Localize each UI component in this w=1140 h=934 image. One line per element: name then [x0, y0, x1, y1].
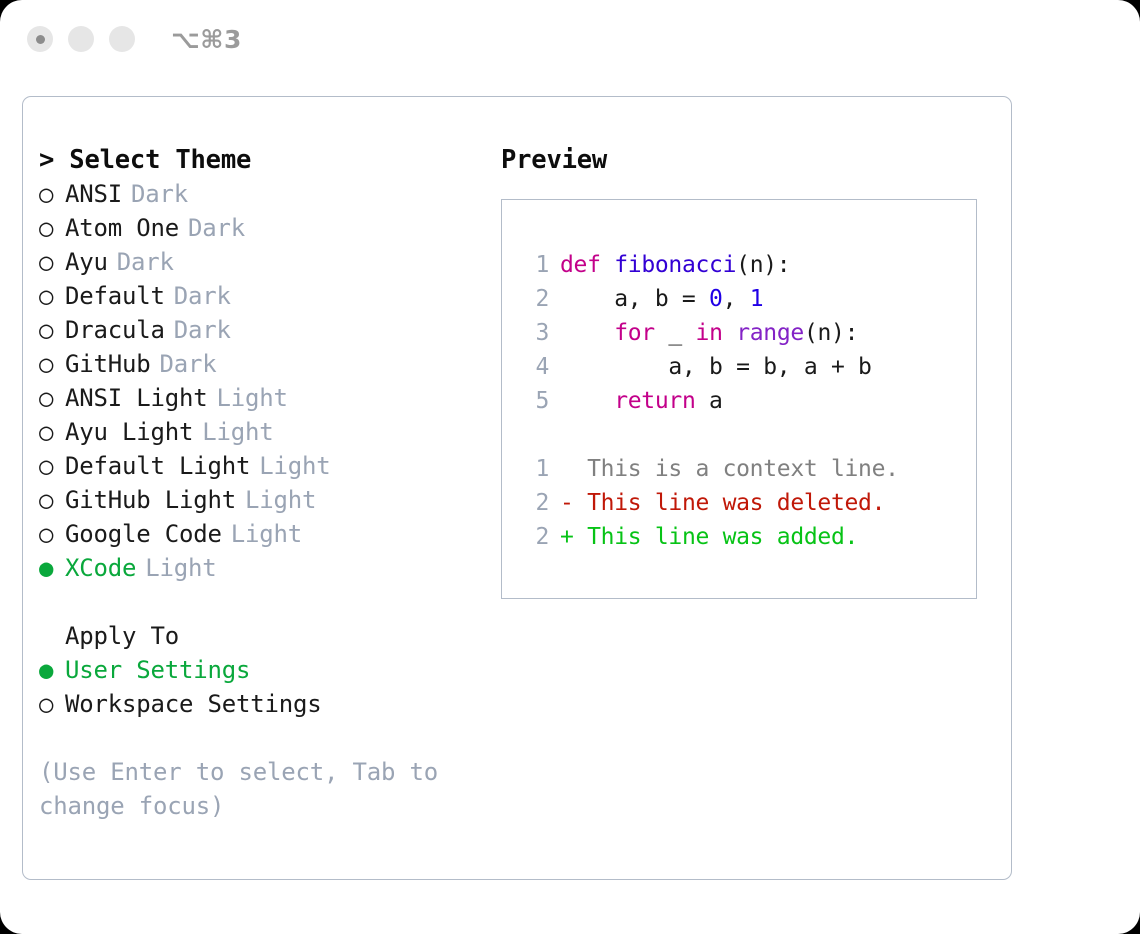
- code-line: 1def fibonacci(n):: [502, 248, 976, 282]
- theme-option-name: Ayu Light: [65, 415, 193, 449]
- theme-option[interactable]: ○ANSIDark: [39, 177, 489, 211]
- radio-unselected-icon[interactable]: ○: [39, 415, 65, 449]
- code-line: 4 a, b = b, a + b: [502, 350, 976, 384]
- theme-option[interactable]: ○GitHubDark: [39, 347, 489, 381]
- apply-to-option[interactable]: ●User Settings: [39, 653, 489, 687]
- apply-to-option[interactable]: ○Workspace Settings: [39, 687, 489, 721]
- code-token-plain: (n):: [736, 252, 790, 278]
- diff-line: 2- This line was deleted.: [502, 486, 976, 520]
- radio-unselected-icon[interactable]: ○: [39, 381, 65, 415]
- theme-option-kind: Light: [217, 381, 288, 415]
- code-token-kw: return: [614, 388, 695, 414]
- code-line-content: for _ in range(n):: [560, 316, 858, 350]
- code-token-plain: _: [655, 320, 696, 346]
- code-token-plain: a, b =: [560, 286, 709, 312]
- theme-option-kind: Light: [231, 517, 302, 551]
- diff-line-text: This line was deleted.: [574, 486, 886, 520]
- theme-option-kind: Light: [259, 449, 330, 483]
- theme-picker-panel: > Select Theme ○ANSIDark○Atom OneDark○Ay…: [39, 143, 489, 823]
- code-line: 5 return a: [502, 384, 976, 418]
- section-spacer: [39, 585, 489, 619]
- code-token-num: 1: [750, 286, 764, 312]
- radio-unselected-icon[interactable]: ○: [39, 313, 65, 347]
- code-token-call: range: [736, 320, 804, 346]
- theme-option[interactable]: ●XCodeLight: [39, 551, 489, 585]
- code-line-number: 5: [519, 384, 549, 418]
- window-dot-third[interactable]: [109, 26, 135, 52]
- theme-option-kind: Light: [145, 551, 216, 585]
- theme-option[interactable]: ○GitHub LightLight: [39, 483, 489, 517]
- theme-option-kind: Dark: [117, 245, 174, 279]
- theme-option[interactable]: ○DefaultDark: [39, 279, 489, 313]
- code-sample: 1def fibonacci(n):2 a, b = 0, 13 for _ i…: [502, 248, 976, 418]
- code-line-number: 1: [519, 248, 549, 282]
- radio-selected-icon[interactable]: ●: [39, 653, 65, 687]
- theme-option[interactable]: ○ANSI LightLight: [39, 381, 489, 415]
- theme-option-kind: Light: [202, 415, 273, 449]
- code-diff-separator: [502, 418, 976, 452]
- code-line: 2 a, b = 0, 1: [502, 282, 976, 316]
- theme-option-name: GitHub: [65, 347, 151, 381]
- theme-option[interactable]: ○Default LightLight: [39, 449, 489, 483]
- code-line-content: a, b = 0, 1: [560, 282, 763, 316]
- theme-option[interactable]: ○DraculaDark: [39, 313, 489, 347]
- theme-option-name: ANSI: [65, 177, 122, 211]
- code-line-content: def fibonacci(n):: [560, 248, 790, 282]
- window-dot-second[interactable]: [68, 26, 94, 52]
- diff-sample: 1 This is a context line.2- This line wa…: [502, 452, 976, 554]
- code-token-plain: [560, 388, 614, 414]
- code-token-kw: for: [614, 320, 655, 346]
- theme-option-name: Atom One: [65, 211, 179, 245]
- window-dot-active[interactable]: [27, 26, 53, 52]
- radio-unselected-icon[interactable]: ○: [39, 687, 65, 721]
- theme-list: ○ANSIDark○Atom OneDark○AyuDark○DefaultDa…: [39, 177, 489, 585]
- select-theme-header: > Select Theme: [39, 143, 489, 177]
- theme-option-kind: Light: [245, 483, 316, 517]
- keyboard-shortcut-label: ⌥⌘3: [171, 25, 242, 54]
- radio-unselected-icon[interactable]: ○: [39, 245, 65, 279]
- code-token-plain: [601, 252, 615, 278]
- theme-option-name: XCode: [65, 551, 136, 585]
- code-token-plain: [723, 320, 737, 346]
- code-line-number: 3: [519, 316, 549, 350]
- radio-unselected-icon[interactable]: ○: [39, 177, 65, 211]
- code-token-plain: a: [696, 388, 723, 414]
- code-token-plain: a, b = b, a + b: [560, 354, 872, 380]
- theme-option[interactable]: ○AyuDark: [39, 245, 489, 279]
- radio-unselected-icon[interactable]: ○: [39, 279, 65, 313]
- diff-line: 1 This is a context line.: [502, 452, 976, 486]
- code-token-fn: fibonacci: [614, 252, 736, 278]
- theme-option-kind: Dark: [131, 177, 188, 211]
- diff-line-number: 2: [519, 486, 549, 520]
- code-line-content: return a: [560, 384, 723, 418]
- theme-option-name: Google Code: [65, 517, 222, 551]
- code-token-plain: ,: [723, 286, 750, 312]
- preview-box: 1def fibonacci(n):2 a, b = 0, 13 for _ i…: [501, 199, 977, 599]
- radio-unselected-icon[interactable]: ○: [39, 449, 65, 483]
- radio-unselected-icon[interactable]: ○: [39, 211, 65, 245]
- diff-marker: [560, 452, 574, 486]
- keyboard-hint-text: (Use Enter to select, Tab to change focu…: [39, 755, 439, 823]
- content-frame: > Select Theme ○ANSIDark○Atom OneDark○Ay…: [22, 96, 1012, 880]
- theme-option-name: Ayu: [65, 245, 108, 279]
- apply-to-list: ●User Settings○Workspace Settings: [39, 653, 489, 721]
- apply-to-option-name: User Settings: [65, 653, 250, 687]
- radio-unselected-icon[interactable]: ○: [39, 517, 65, 551]
- diff-line-number: 2: [519, 520, 549, 554]
- theme-option[interactable]: ○Ayu LightLight: [39, 415, 489, 449]
- theme-option-kind: Dark: [160, 347, 217, 381]
- title-bar: ⌥⌘3: [0, 0, 1140, 78]
- code-token-num: 0: [709, 286, 723, 312]
- radio-selected-icon[interactable]: ●: [39, 551, 65, 585]
- code-line: 3 for _ in range(n):: [502, 316, 976, 350]
- theme-option-name: Default: [65, 279, 165, 313]
- theme-option[interactable]: ○Google CodeLight: [39, 517, 489, 551]
- code-token-kw: def: [560, 252, 601, 278]
- theme-option-name: ANSI Light: [65, 381, 208, 415]
- apply-to-option-name: Workspace Settings: [65, 687, 322, 721]
- theme-option-kind: Dark: [174, 279, 231, 313]
- code-token-plain: [560, 320, 614, 346]
- theme-option-name: Default Light: [65, 449, 250, 483]
- theme-option-kind: Dark: [174, 313, 231, 347]
- theme-option-name: Dracula: [65, 313, 165, 347]
- preview-title: Preview: [501, 143, 993, 177]
- code-token-kw: in: [696, 320, 723, 346]
- app-window: ⌥⌘3 > Select Theme ○ANSIDark○Atom OneDar…: [0, 0, 1140, 934]
- diff-line-text: This is a context line.: [574, 452, 899, 486]
- theme-option-name: GitHub Light: [65, 483, 236, 517]
- diff-marker: +: [560, 520, 574, 554]
- code-line-number: 2: [519, 282, 549, 316]
- apply-to-title: Apply To: [39, 619, 489, 653]
- preview-panel: Preview 1def fibonacci(n):2 a, b = 0, 13…: [501, 143, 993, 599]
- theme-option[interactable]: ○Atom OneDark: [39, 211, 489, 245]
- diff-line-number: 1: [519, 452, 549, 486]
- diff-marker: -: [560, 486, 574, 520]
- radio-unselected-icon[interactable]: ○: [39, 483, 65, 517]
- code-token-plain: (n):: [804, 320, 858, 346]
- diff-line: 2+ This line was added.: [502, 520, 976, 554]
- code-line-content: a, b = b, a + b: [560, 350, 872, 384]
- theme-option-kind: Dark: [188, 211, 245, 245]
- diff-line-text: This line was added.: [574, 520, 859, 554]
- window-dot-active-indicator: [36, 35, 45, 44]
- radio-unselected-icon[interactable]: ○: [39, 347, 65, 381]
- code-line-number: 4: [519, 350, 549, 384]
